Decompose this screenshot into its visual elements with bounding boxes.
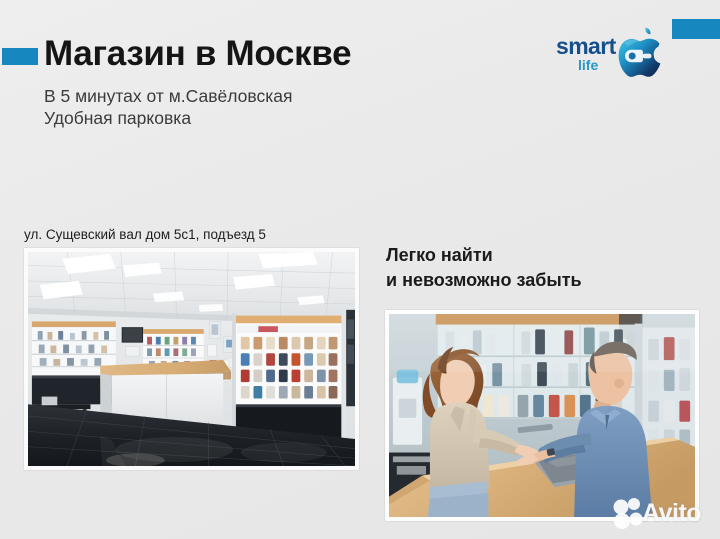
page-title: Магазин в Москве xyxy=(44,36,351,71)
accent-bar-right xyxy=(672,19,720,39)
tagline: Легко найти и невозможно забыть xyxy=(386,243,582,293)
subtitle-line-1: В 5 минутах от м.Савёловская xyxy=(44,85,292,107)
slide-canvas: Магазин в Москве В 5 минутах от м.Савёло… xyxy=(0,0,720,539)
brand-logo: smart life xyxy=(556,26,666,90)
customer-service-photo xyxy=(385,310,699,521)
tagline-line-2: и невозможно забыть xyxy=(386,268,582,293)
page-subtitle: В 5 минутах от м.Савёловская Удобная пар… xyxy=(44,85,292,129)
subtitle-line-2: Удобная парковка xyxy=(44,107,292,129)
accent-bar-left xyxy=(2,48,38,65)
address-caption: ул. Сущевский вал дом 5с1, подъезд 5 xyxy=(24,227,266,242)
apple-logo-icon xyxy=(618,26,668,88)
tagline-line-1: Легко найти xyxy=(386,243,582,268)
store-interior-photo xyxy=(24,248,359,470)
